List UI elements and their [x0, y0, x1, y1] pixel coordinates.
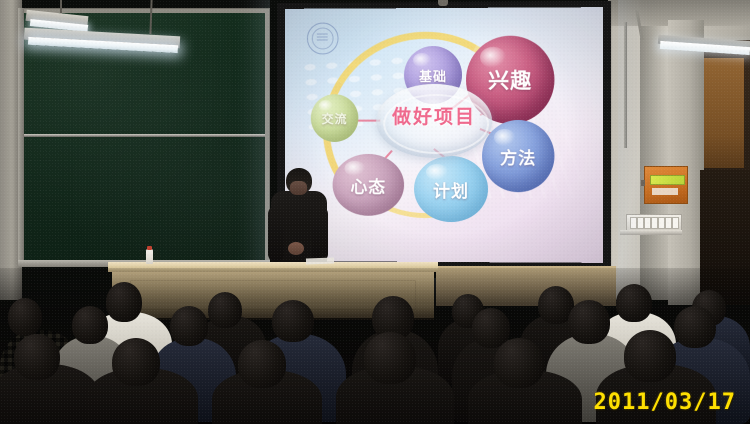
slide-center-title: 做好项目 — [376, 102, 492, 129]
bubble-label: 心态 — [350, 172, 386, 197]
presenter-face — [290, 181, 307, 195]
water-bottle — [146, 249, 153, 264]
audience-head — [72, 306, 108, 344]
audience-head — [112, 338, 160, 386]
photograph: 基础 兴趣 方法 计划 心态 交流 做好项目 — [0, 0, 750, 424]
audience-head — [208, 292, 242, 328]
box-latch[interactable] — [641, 180, 645, 186]
audience-head — [14, 334, 60, 380]
bubble-label: 计划 — [433, 176, 469, 201]
audience-head — [106, 282, 142, 322]
papers-on-podium — [306, 258, 334, 265]
bubble-jihua[interactable]: 计划 — [414, 156, 488, 222]
audience-head — [8, 298, 42, 336]
projection-screen: 基础 兴趣 方法 计划 心态 交流 做好项目 — [285, 7, 603, 263]
door-frame — [704, 58, 744, 168]
info-label — [652, 188, 678, 195]
presenter-arm-right — [312, 206, 328, 262]
camera-timestamp: 2011/03/17 — [594, 390, 736, 415]
audience-head — [170, 306, 208, 346]
bubble-jiaoliu[interactable]: 交流 — [311, 94, 359, 142]
bubble-label: 交流 — [322, 110, 348, 127]
electrical-junction-box[interactable] — [644, 166, 688, 204]
power-outlet[interactable] — [665, 217, 672, 229]
bubble-fangfa[interactable]: 方法 — [482, 120, 554, 192]
audience-head — [624, 330, 676, 382]
audience-head — [568, 300, 610, 344]
warning-label — [650, 175, 685, 185]
blackboard-left-edge — [18, 8, 24, 267]
bubble-xintai[interactable]: 心态 — [333, 154, 404, 216]
power-outlet[interactable] — [644, 217, 651, 229]
bubble-label: 兴趣 — [488, 65, 532, 95]
bottle-cap — [147, 246, 152, 250]
power-outlet[interactable] — [630, 217, 637, 229]
wall-pillar — [668, 20, 704, 305]
power-outlet[interactable] — [658, 217, 665, 229]
power-outlet[interactable] — [651, 217, 658, 229]
bubble-label: 基础 — [419, 65, 447, 84]
presenter-hands — [288, 242, 304, 255]
blackboard-divider-rail — [23, 134, 265, 137]
power-outlet[interactable] — [672, 217, 679, 229]
bubble-label: 方法 — [500, 144, 536, 169]
screen-hook — [438, 0, 448, 6]
audience-head — [674, 306, 716, 348]
audience-head — [616, 284, 652, 322]
audience-head — [272, 300, 314, 342]
wall-conduit — [624, 22, 627, 148]
presenter-arm-left — [268, 206, 284, 262]
power-outlet[interactable] — [637, 217, 644, 229]
university-seal-icon — [307, 23, 339, 55]
audience-head — [238, 340, 286, 388]
audience-head — [494, 338, 544, 388]
audience-head — [364, 332, 416, 384]
wall-sill — [620, 230, 682, 235]
